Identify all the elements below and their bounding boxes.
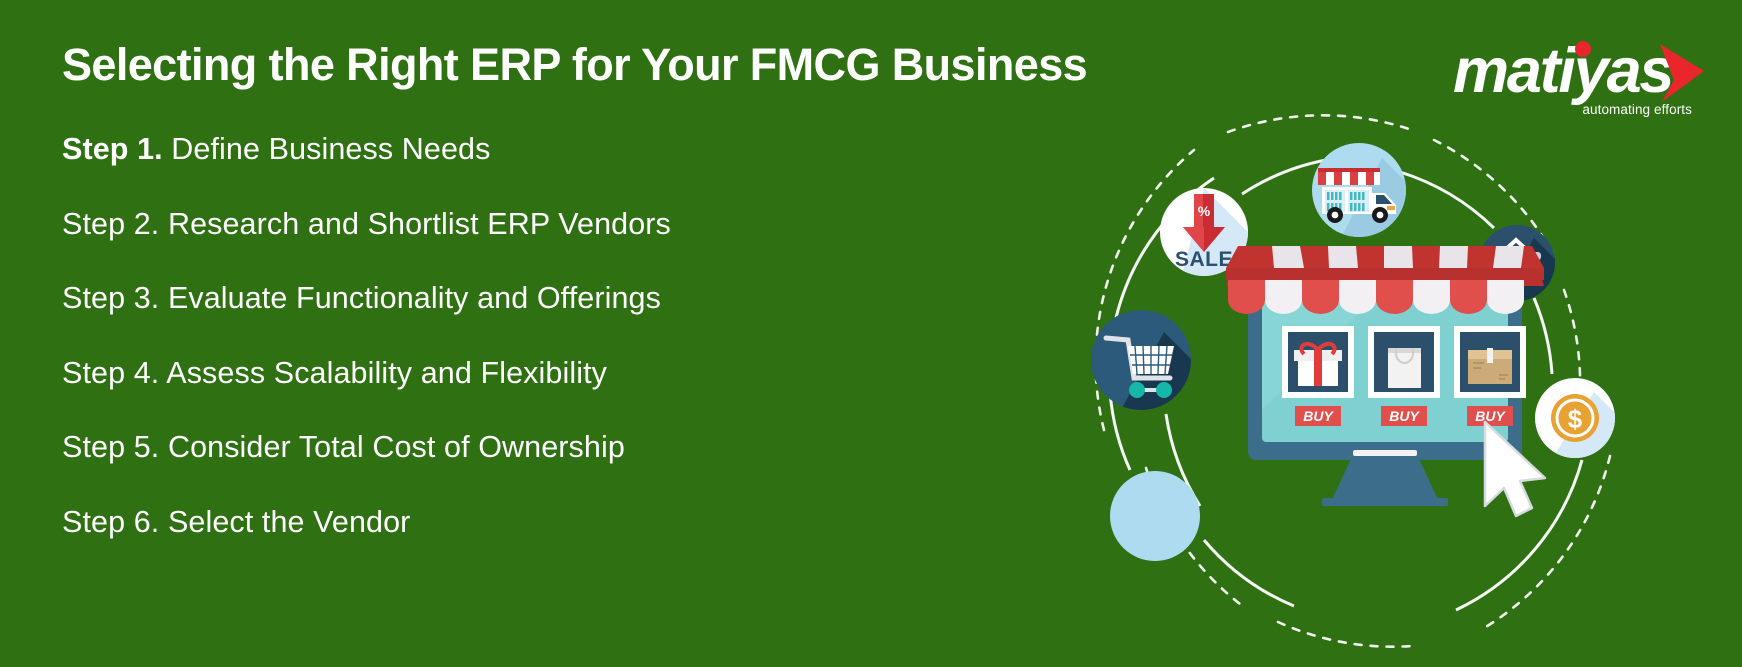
buy-button-2-label: BUY [1389,408,1420,424]
list-item-step-3: Step 3. Evaluate Functionality and Offer… [62,283,1062,314]
svg-text:%: % [1198,203,1211,219]
product-card-2 [1368,326,1440,398]
sale-badge-label: SALE [1175,248,1233,271]
step-1-label: Step 1. [62,132,163,166]
content-column: Selecting the Right ERP for Your FMCG Bu… [62,40,1062,537]
delivery-truck-badge [1312,143,1422,240]
product-card-3 [1454,326,1526,398]
list-item-step-1: Step 1. Define Business Needs [62,134,1062,165]
dollar-coin-icon: $ [1551,394,1599,442]
step-5-label: Step 5. [62,430,159,464]
buy-button-1-label: BUY [1303,408,1334,424]
steps-list: Step 1. Define Business Needs Step 2. Re… [62,134,1062,537]
list-item-step-2: Step 2. Research and Shortlist ERP Vendo… [62,209,1062,240]
buy-button-2[interactable]: BUY [1381,406,1427,426]
circle-icon [1110,471,1200,561]
step-2-text: Research and Shortlist ERP Vendors [168,207,671,241]
cardboard-box-icon [1468,348,1512,384]
step-2-label: Step 2. [62,207,159,241]
dollar-coin-badge: $ [1535,378,1627,462]
step-6-label: Step 6. [62,505,159,539]
step-3-text: Evaluate Functionality and Offerings [168,281,661,315]
gift-box-icon [1294,344,1342,386]
striped-awning-icon [1226,246,1544,314]
product-card-1 [1282,326,1354,398]
list-item-step-4: Step 4. Assess Scalability and Flexibili… [62,358,1062,389]
shopping-cart-badge [1091,310,1204,415]
step-4-text: Assess Scalability and Flexibility [166,356,607,390]
page-title: Selecting the Right ERP for Your FMCG Bu… [62,40,1062,90]
step-4-label: Step 4. [62,356,159,390]
step-1-text: Define Business Needs [171,132,490,166]
step-6-text: Select the Vendor [168,505,410,539]
banner-root: Selecting the Right ERP for Your FMCG Bu… [0,0,1742,667]
step-3-label: Step 3. [62,281,159,315]
ecommerce-illustration: % SALE [1082,0,1742,667]
buy-button-1[interactable]: BUY [1295,406,1341,426]
step-5-text: Consider Total Cost of Ownership [168,430,625,464]
list-item-step-5: Step 5. Consider Total Cost of Ownership [62,432,1062,463]
svg-text:$: $ [1568,404,1583,434]
shopping-bag-icon [1388,348,1421,388]
list-item-step-6: Step 6. Select the Vendor [62,507,1062,538]
buy-button-3[interactable]: BUY [1467,406,1513,426]
buy-button-3-label: BUY [1475,408,1506,424]
